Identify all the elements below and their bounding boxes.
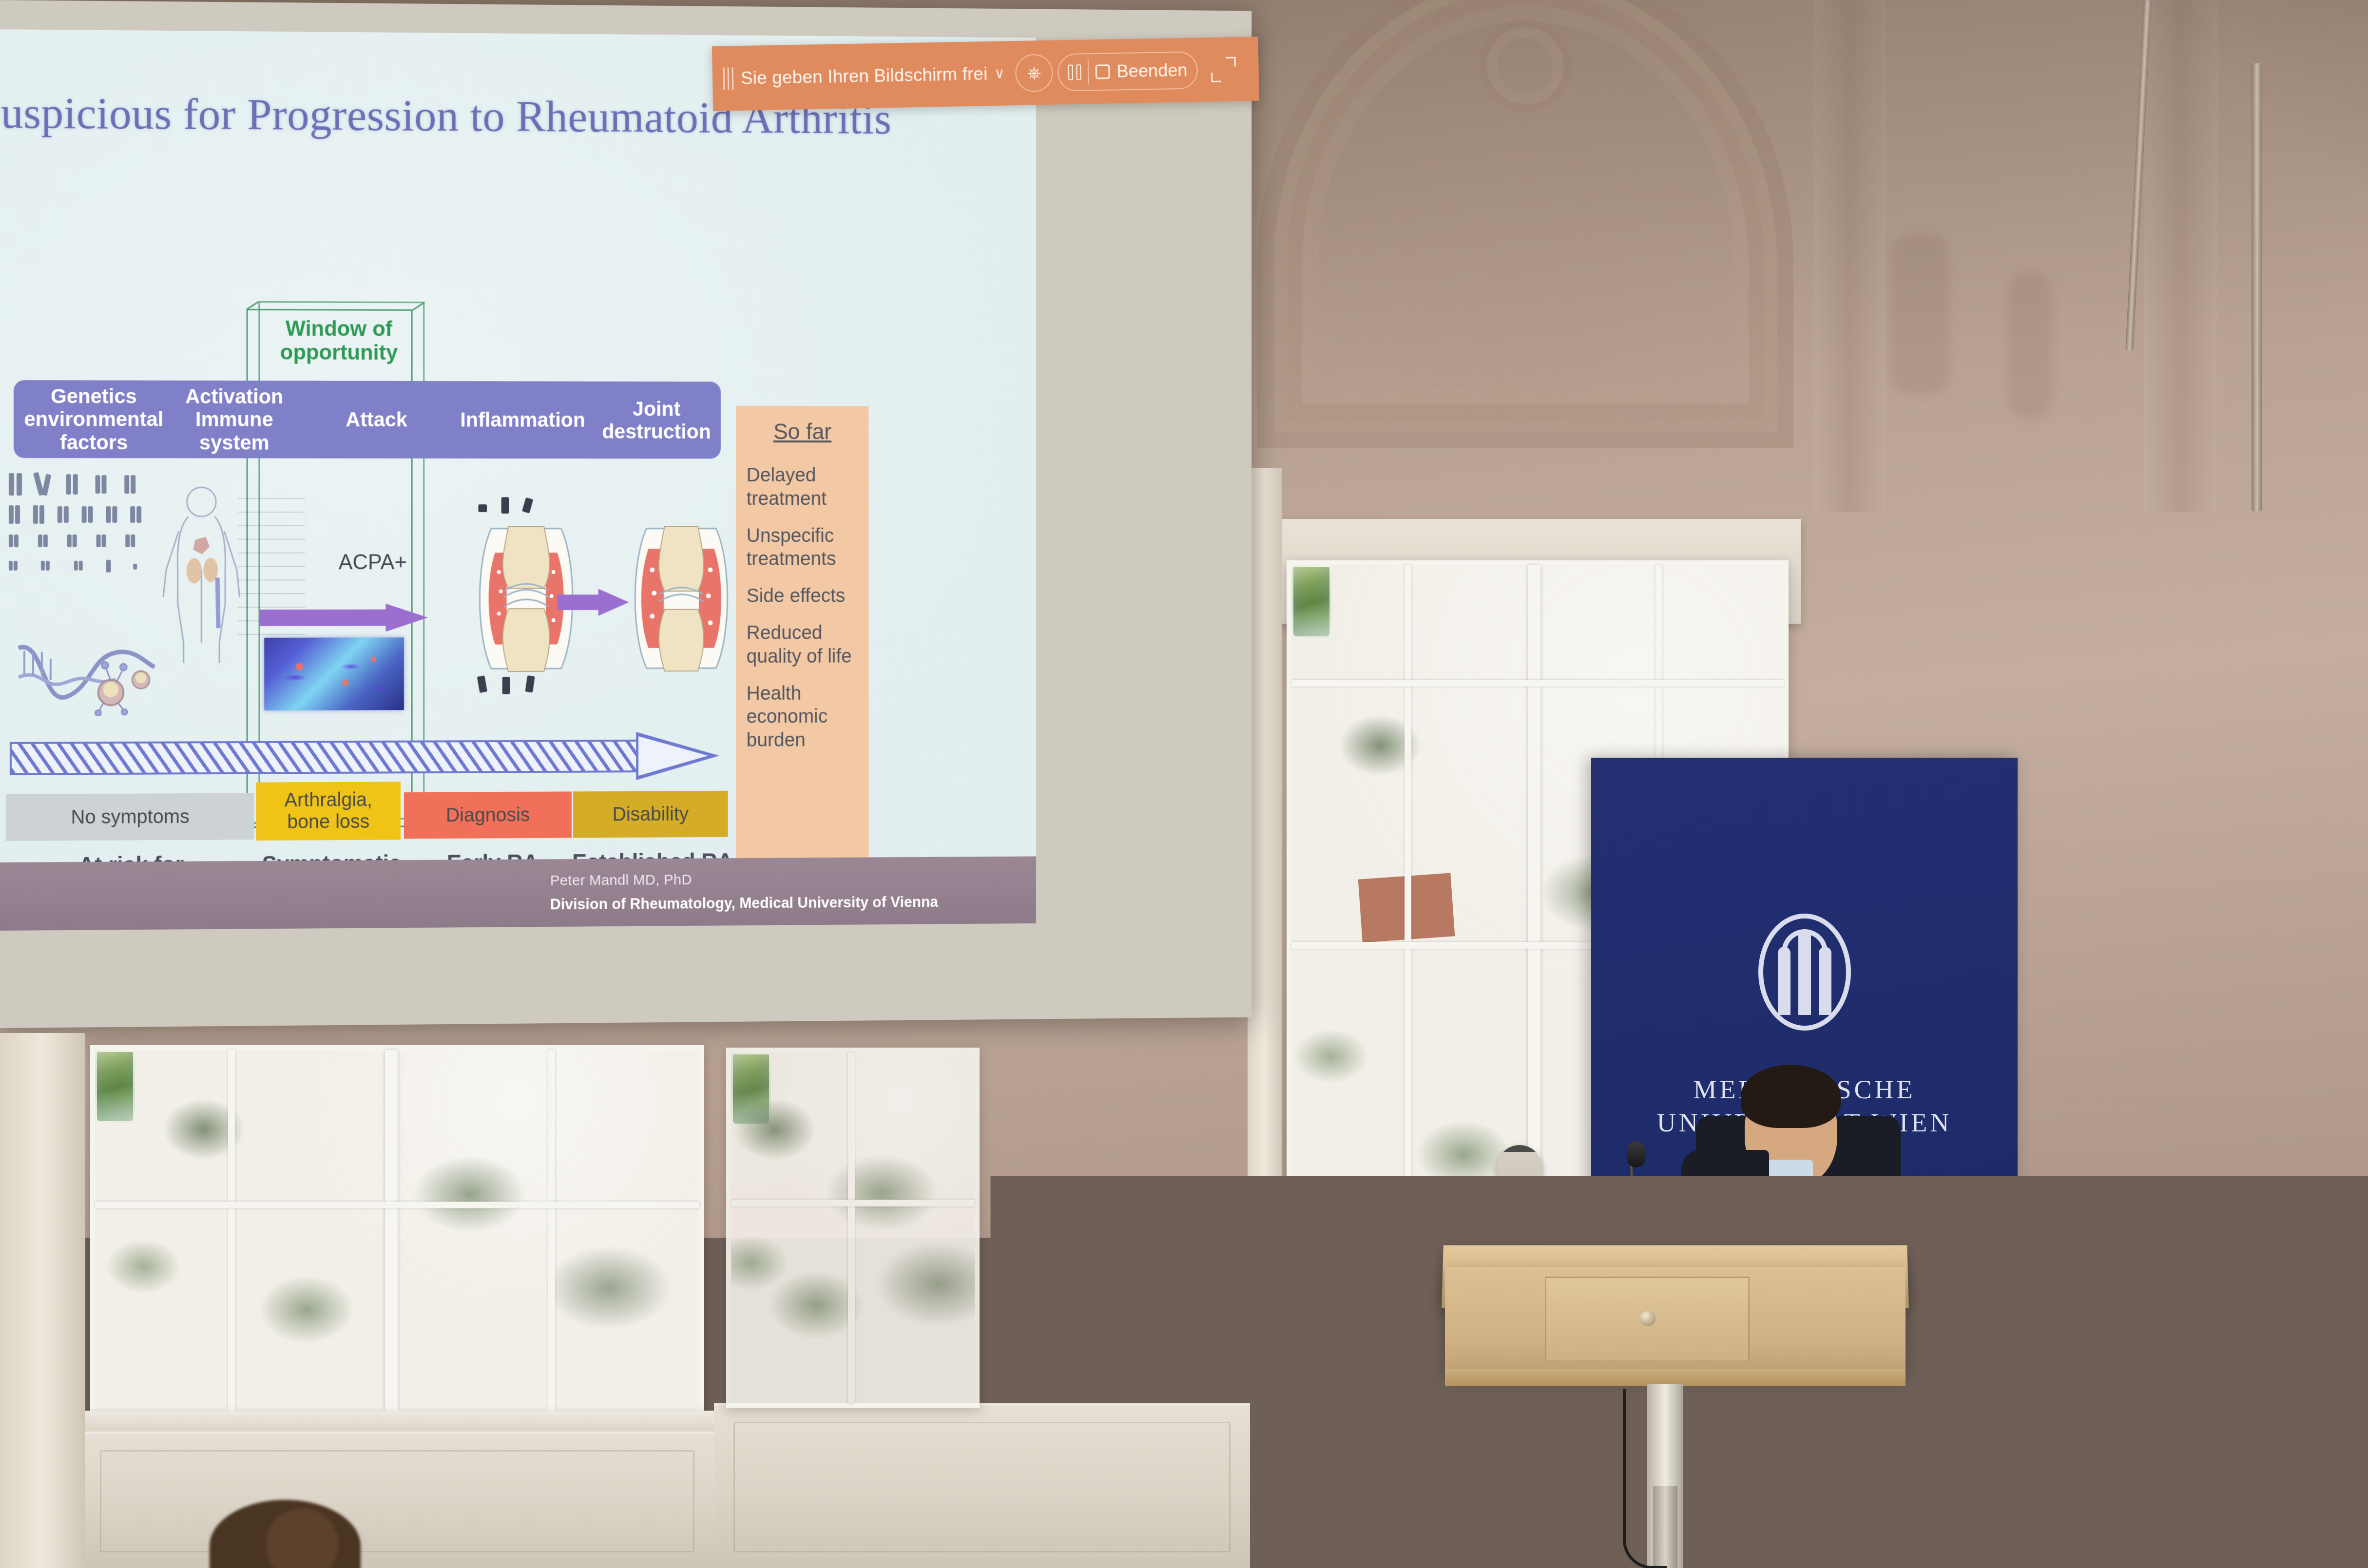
so-far-item: Side effects	[747, 584, 865, 608]
joint-illustration-established	[627, 524, 736, 673]
symptom-bar-no-symptoms: No symptoms	[6, 793, 254, 841]
drawer-knob[interactable]	[1640, 1311, 1656, 1326]
so-far-list: DelayedtreatmentUnspecifictreatmentsSide…	[747, 463, 865, 765]
so-far-item: Delayedtreatment	[747, 463, 865, 510]
so-far-item: Healtheconomicburden	[747, 681, 865, 752]
chevron-down-icon: ∨	[994, 65, 1005, 82]
acpa-label: ACPA+	[305, 550, 440, 574]
stop-square-icon	[1096, 64, 1110, 79]
dna-helix-illustration	[14, 633, 159, 716]
wainscot-panel	[80, 1432, 714, 1568]
phase-activation: Activation Immune system	[164, 381, 305, 459]
so-far-heading: So far	[736, 418, 868, 444]
symptom-bar-arthralgia: Arthralgia, bone loss	[256, 782, 401, 841]
wall-stain	[1891, 234, 1949, 395]
logo-monogram	[1778, 929, 1831, 1015]
presenter-affiliation: Division of Rheumatology, Medical Univer…	[550, 893, 938, 913]
microphone-puck	[1733, 1232, 1773, 1246]
wall-jamb	[1248, 468, 1282, 1568]
window-of-opportunity-label: Window ofopportunity	[267, 317, 411, 365]
wall-pilaster	[1813, 0, 1886, 512]
timeline-arrow	[10, 735, 727, 779]
lectern-lip	[1445, 1369, 1906, 1386]
body-anatomy-illustration	[155, 482, 248, 667]
phase-genetics: Genetics environmental factors	[14, 380, 174, 458]
so-far-item: Unspecifictreatments	[747, 524, 865, 571]
share-status-text: Sie geben Ihren Bildschirm frei	[741, 63, 988, 88]
wall-stain	[2008, 273, 2052, 419]
wall-pipe	[2252, 63, 2262, 512]
microphone-led	[1617, 1217, 1625, 1225]
window-sill	[80, 1411, 714, 1434]
symptom-bar-diagnosis: Diagnosis	[404, 791, 572, 839]
drag-handle-icon[interactable]	[723, 67, 736, 90]
window-left-2	[726, 1048, 980, 1408]
stop-share-label: Beenden	[1117, 60, 1188, 81]
phase-attack: Attack	[304, 381, 448, 458]
projection-screen: Suspicious for Progression to Rheumatoid…	[0, 0, 1251, 1028]
window-left	[90, 1045, 704, 1415]
lecture-hall-scene: Suspicious for Progression to Rheumatoid…	[0, 0, 2368, 1568]
wall-pilaster	[2144, 0, 2217, 512]
wall-pilaster	[0, 1033, 85, 1568]
symptom-bar-disability: Disability	[573, 791, 728, 838]
pause-icon[interactable]	[1068, 64, 1081, 80]
presenter-name: Peter Mandl MD, PhD	[550, 872, 692, 889]
phase-inflammation: Inflammation	[439, 381, 607, 459]
arch-medallion	[1479, 19, 1572, 112]
divider	[1088, 59, 1089, 85]
progression-arrow-1	[259, 604, 428, 632]
so-far-panel: So far DelayedtreatmentUnspecifictreatme…	[736, 406, 868, 926]
expand-icon[interactable]	[1209, 55, 1238, 84]
antibody-micrograph	[264, 637, 404, 710]
share-controls-group[interactable]: Beenden	[1058, 51, 1198, 92]
progression-arrow-2	[558, 589, 629, 616]
phase-banner: Genetics environmental factors Activatio…	[14, 380, 721, 459]
share-status-dropdown[interactable]: Sie geben Ihren Bildschirm frei ∨	[741, 63, 1005, 89]
cable	[1464, 1384, 1523, 1457]
phase-joint-destruction: Joint destruction	[592, 382, 721, 459]
wainscot-panel	[714, 1403, 1250, 1568]
cable	[1623, 1389, 1667, 1568]
mic-icon: ⎈	[1027, 64, 1041, 81]
mic-button[interactable]: ⎈	[1015, 54, 1053, 92]
so-far-item: Reducedquality of life	[747, 621, 865, 669]
microphone-base	[1603, 1228, 1725, 1245]
microphone-head	[1627, 1141, 1645, 1167]
eyeglasses	[2061, 1364, 2120, 1397]
ceiling-arch	[1257, 0, 1793, 448]
presentation-slide: Suspicious for Progression to Rheumatoid…	[0, 29, 1036, 931]
zoom-share-toolbar[interactable]: Sie geben Ihren Bildschirm frei ∨ ⎈ Been…	[712, 37, 1259, 111]
conference-speakerphone	[1497, 1145, 1542, 1248]
slide-footer: Peter Mandl MD, PhD Division of Rheumato…	[0, 856, 1036, 931]
